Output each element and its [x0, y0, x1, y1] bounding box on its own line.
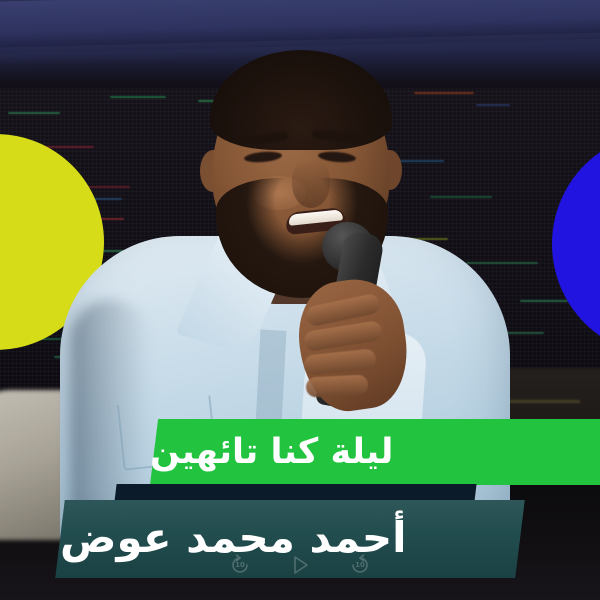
replay-10-icon[interactable]: 10: [227, 552, 253, 578]
finger: [306, 374, 369, 397]
video-thumbnail-stage[interactable]: ليلة كنا تائهين أحمد محمد عوض 10 10: [0, 0, 600, 600]
teeth: [288, 209, 343, 226]
play-icon[interactable]: [287, 552, 313, 578]
forward-10-label: 10: [355, 561, 365, 569]
forward-10-icon[interactable]: 10: [347, 552, 373, 578]
replay-10-label: 10: [235, 561, 245, 569]
program-title-text: ليلة كنا تائهين: [150, 419, 600, 485]
video-player-controls[interactable]: 10 10: [0, 552, 600, 578]
hair: [210, 50, 392, 150]
